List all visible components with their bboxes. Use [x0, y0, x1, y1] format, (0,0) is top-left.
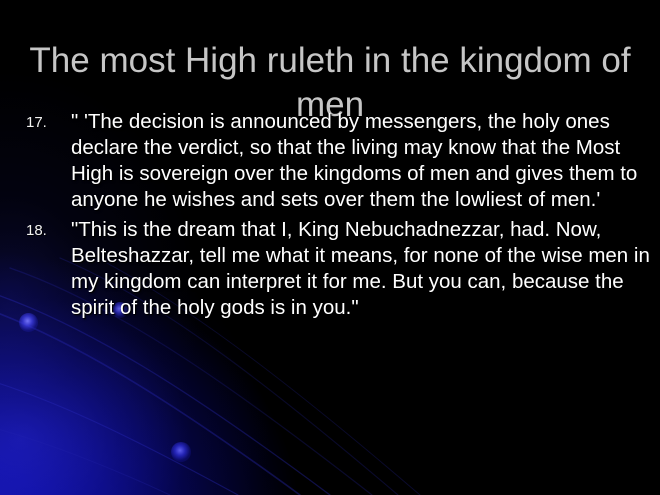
list-item: 17. " 'The decision is announced by mess…	[0, 109, 660, 213]
list-item-number: 17.	[26, 114, 60, 132]
presentation-slide: The most High ruleth in the kingdom of m…	[0, 0, 660, 495]
slide-body-list: 17. " 'The decision is announced by mess…	[0, 109, 660, 325]
list-item: 18. "This is the dream that I, King Nebu…	[0, 217, 660, 321]
list-item-text: " 'The decision is announced by messenge…	[71, 109, 652, 213]
list-item-text: "This is the dream that I, King Nebuchad…	[71, 217, 652, 321]
glow-orb-lower	[171, 442, 191, 462]
list-item-number: 18.	[26, 222, 60, 240]
